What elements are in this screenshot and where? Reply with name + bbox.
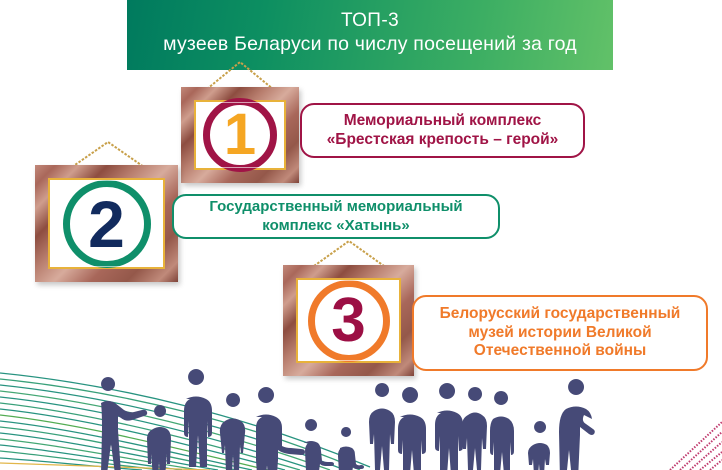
- callout-rank-1[interactable]: Мемориальный комплекс «Брестская крепост…: [300, 103, 585, 158]
- frame-mat-rank-3: 3: [296, 278, 401, 363]
- frame-mat-rank-2: 2: [48, 178, 165, 269]
- callout-1-line2: «Брестская крепость – герой»: [327, 131, 559, 150]
- callout-3-line3: Отечественной войны: [474, 342, 646, 361]
- picture-frame-rank-3[interactable]: 3: [283, 265, 414, 376]
- corner-hatch-decoration: [642, 410, 722, 470]
- rank-number-1: 1: [203, 98, 277, 172]
- callout-rank-3[interactable]: Белорусский государственный музей истори…: [412, 295, 708, 371]
- crowd-silhouettes: [101, 369, 595, 470]
- frame-mat-rank-1: 1: [194, 100, 286, 170]
- picture-frame-rank-1[interactable]: 1: [181, 87, 299, 183]
- infographic-canvas: ТОП-3 музеев Беларуси по числу посещений…: [0, 0, 722, 470]
- rank-number-2: 2: [63, 180, 151, 268]
- callout-2-line2: комплекс «Хатынь»: [262, 217, 409, 235]
- banner-title-line1: ТОП-3: [341, 10, 399, 32]
- callout-3-line2: музей истории Великой: [468, 324, 651, 343]
- callout-rank-2[interactable]: Государственный мемориальный комплекс «Х…: [172, 194, 500, 239]
- rank-number-3: 3: [308, 280, 390, 362]
- callout-1-line1: Мемориальный комплекс: [344, 112, 542, 131]
- title-banner: ТОП-3 музеев Беларуси по числу посещений…: [127, 0, 613, 70]
- picture-frame-rank-2[interactable]: 2: [35, 165, 178, 282]
- hanging-wire-frame-2: [70, 140, 148, 168]
- hanging-wire-frame-3: [312, 239, 388, 267]
- callout-2-line1: Государственный мемориальный: [209, 198, 462, 216]
- callout-3-line1: Белорусский государственный: [440, 305, 681, 324]
- swoosh-lines: [0, 373, 370, 470]
- banner-title-line2: музеев Беларуси по числу посещений за го…: [163, 32, 577, 56]
